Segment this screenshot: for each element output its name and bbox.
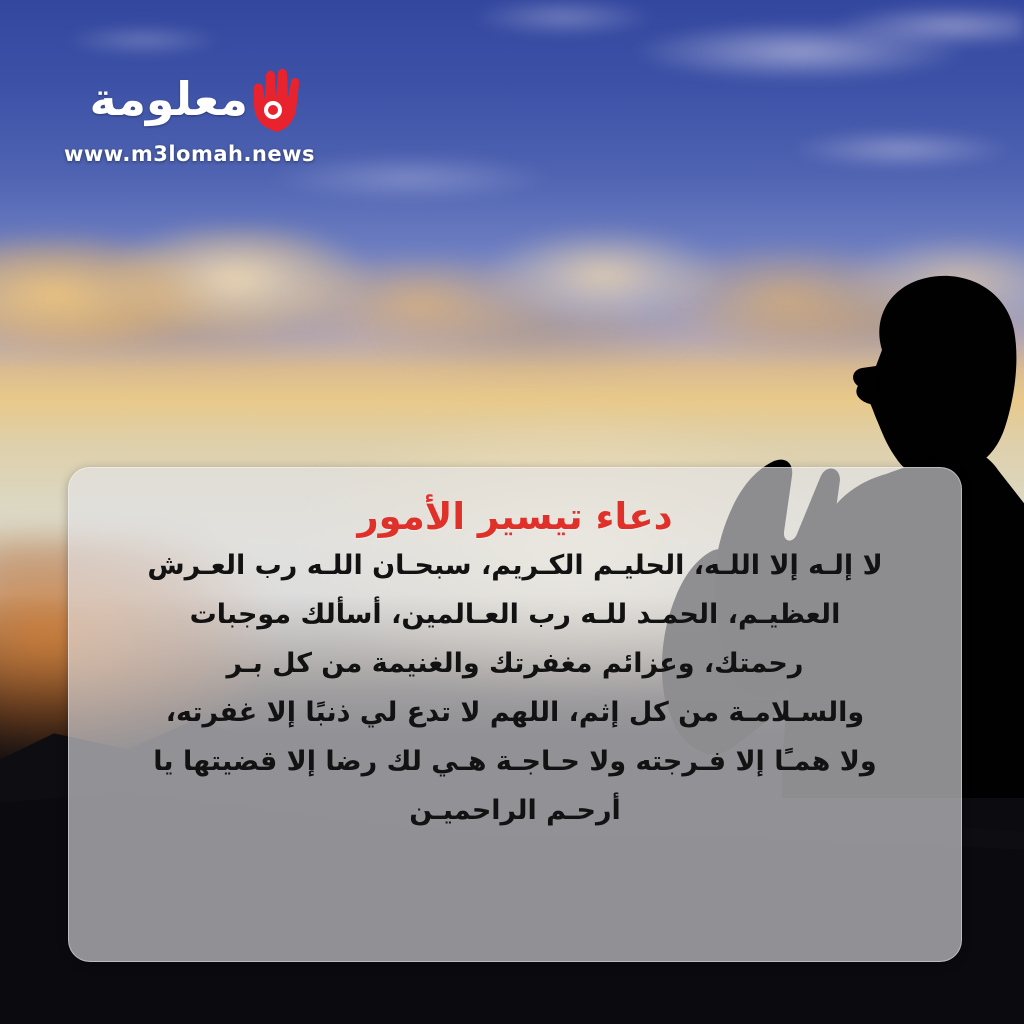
logo-wordmark: معلومة [90,76,248,122]
site-logo[interactable]: معلومة www.m3lomah.news [60,74,300,170]
dua-line: ولا همـًا إلا فـرجته ولا حـاجـة هـي لك ر… [95,748,935,775]
dua-line: رحمتك، وعزائم مغفرتك والغنيمة من كل بـر [95,650,935,677]
dua-line: أرحـم الراحميـن [95,797,935,824]
dua-title: دعاء تيسير الأمور [357,494,672,540]
logo-website-url[interactable]: www.m3lomah.news [64,142,315,166]
dua-text-body: لا إلـه إلا اللـه، الحليـم الكـريم، سبحـ… [95,552,935,824]
ok-hand-icon [246,66,304,132]
dua-line: والسـلامـة من كل إثم، اللهم لا تدع لي ذن… [95,699,935,726]
dua-line: العظيـم، الحمـد للـه رب العـالمين، أسألك… [95,601,935,628]
logo-mark: معلومة [100,74,300,136]
poster-canvas: معلومة www.m3lomah.news دعاء تيسير الأمو… [0,0,1024,1024]
dua-line: لا إلـه إلا اللـه، الحليـم الكـريم، سبحـ… [95,552,935,579]
dua-card: دعاء تيسير الأمور لا إلـه إلا اللـه، الح… [68,467,962,962]
